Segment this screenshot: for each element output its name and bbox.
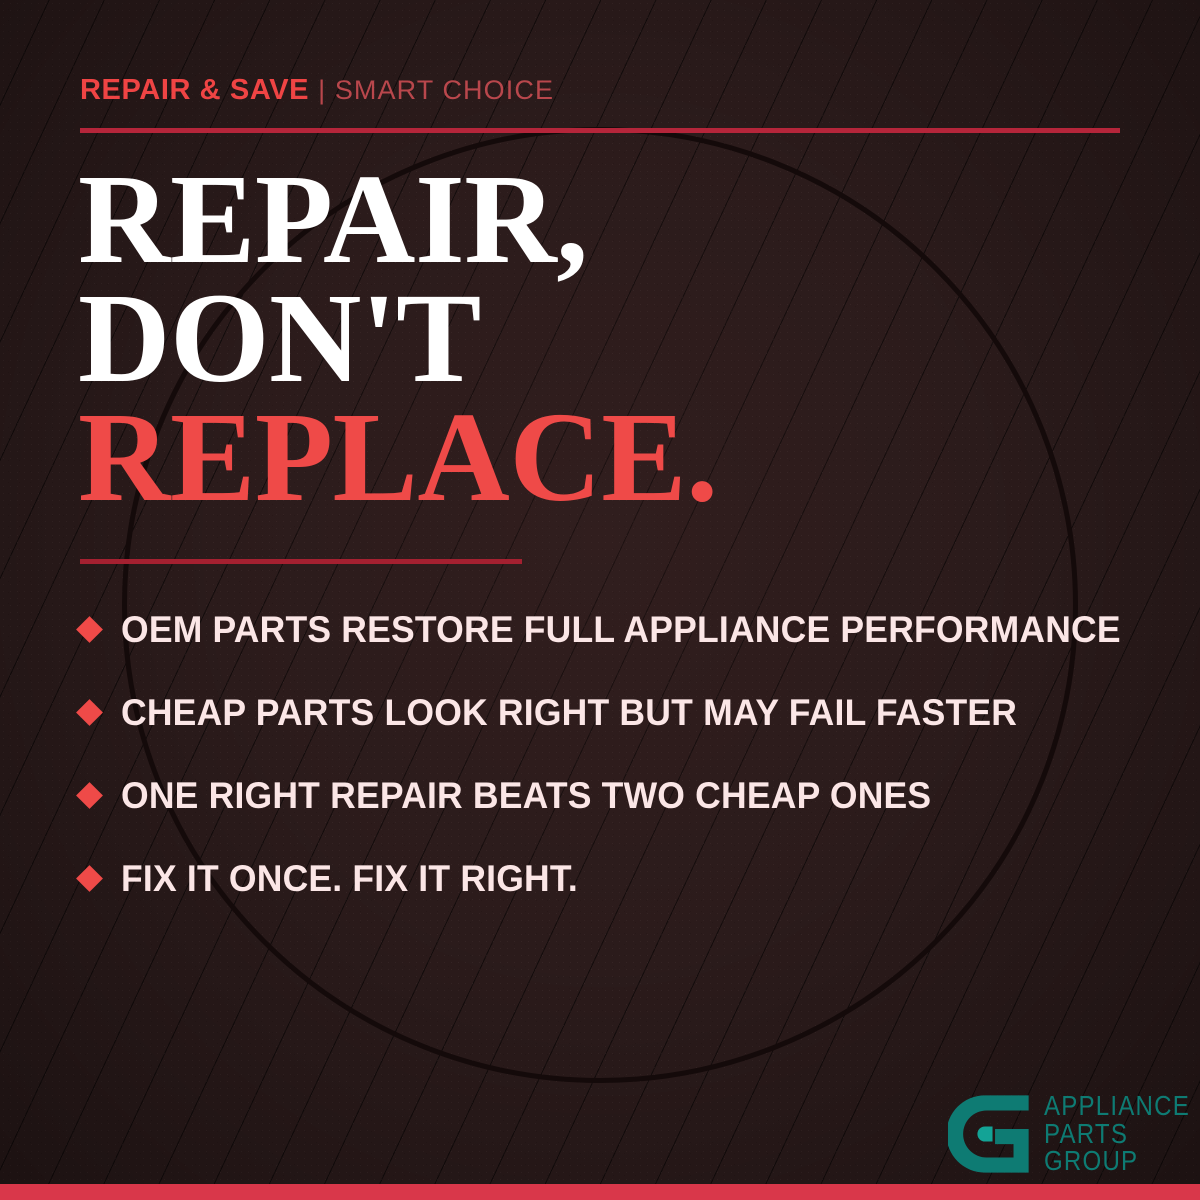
g-monogram-icon bbox=[948, 1092, 1032, 1176]
bottom-accent-bar bbox=[0, 1184, 1200, 1200]
benefits-list: OEM PARTS RESTORE FULL APPLIANCE PERFORM… bbox=[80, 588, 1150, 920]
diamond-bullet-icon bbox=[76, 699, 103, 726]
headline-block: REPAIR, DON'T REPLACE. bbox=[78, 160, 1138, 517]
brand-logo: APPLIANCE PARTS GROUP bbox=[948, 1090, 1200, 1176]
list-item-label: ONE RIGHT REPAIR BEATS TWO CHEAP ONES bbox=[121, 775, 931, 817]
diamond-bullet-icon bbox=[76, 616, 103, 643]
diamond-bullet-icon bbox=[76, 865, 103, 892]
divider-rule-middle bbox=[80, 559, 522, 564]
headline-line-3: REPLACE. bbox=[78, 398, 1138, 517]
brand-logo-wordmark: APPLIANCE PARTS GROUP bbox=[1044, 1090, 1200, 1175]
poster-canvas: REPAIR & SAVE| SMART CHOICE REPAIR, DON'… bbox=[0, 0, 1200, 1200]
logo-word-line-1: APPLIANCE bbox=[1044, 1092, 1190, 1120]
divider-rule-top bbox=[80, 128, 1120, 133]
headline-line-1: REPAIR, bbox=[78, 160, 1138, 279]
list-item: ONE RIGHT REPAIR BEATS TWO CHEAP ONES bbox=[80, 754, 1150, 837]
list-item: CHEAP PARTS LOOK RIGHT BUT MAY FAIL FAST… bbox=[80, 671, 1150, 754]
logo-word-line-3: GROUP bbox=[1044, 1147, 1190, 1175]
kicker-strong-text: REPAIR & SAVE bbox=[80, 74, 309, 106]
logo-word-line-2: PARTS bbox=[1044, 1120, 1190, 1148]
list-item: FIX IT ONCE. FIX IT RIGHT. bbox=[80, 837, 1150, 920]
list-item: OEM PARTS RESTORE FULL APPLIANCE PERFORM… bbox=[80, 588, 1150, 671]
header-kicker: REPAIR & SAVE| SMART CHOICE bbox=[80, 76, 554, 105]
list-item-label: CHEAP PARTS LOOK RIGHT BUT MAY FAIL FAST… bbox=[121, 692, 1017, 734]
list-item-label: OEM PARTS RESTORE FULL APPLIANCE PERFORM… bbox=[121, 609, 1121, 651]
headline-line-2: DON'T bbox=[78, 279, 1138, 398]
kicker-light-text: | SMART CHOICE bbox=[318, 75, 554, 105]
list-item-label: FIX IT ONCE. FIX IT RIGHT. bbox=[121, 858, 578, 900]
diamond-bullet-icon bbox=[76, 782, 103, 809]
